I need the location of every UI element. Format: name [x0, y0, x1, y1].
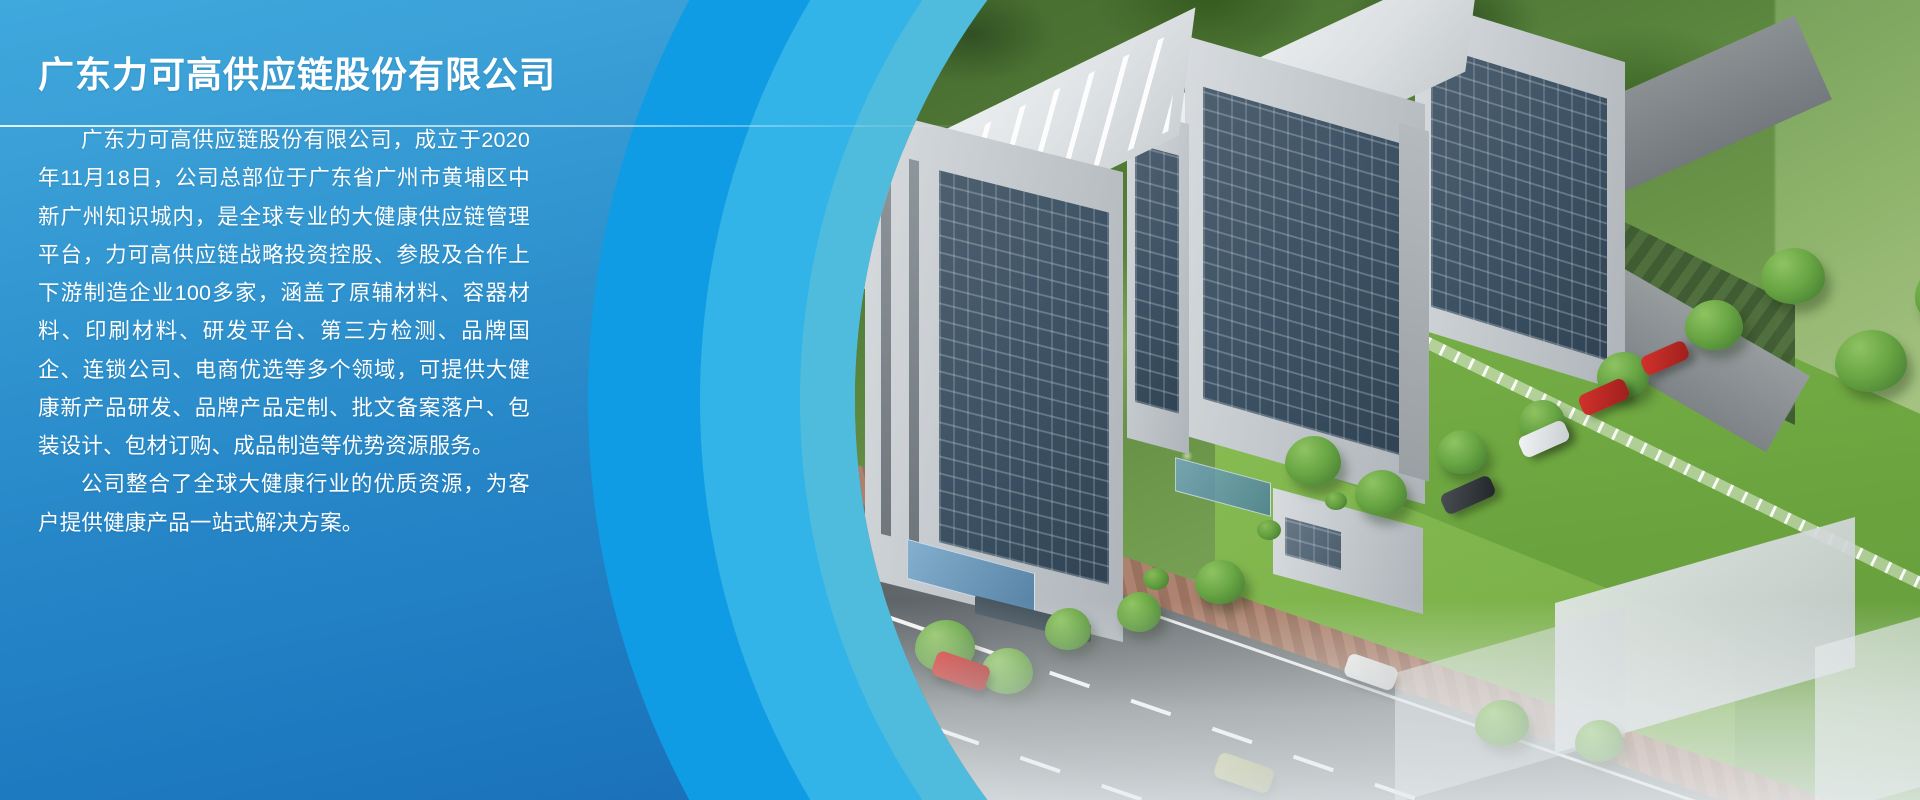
office-block-secondary: [1185, 36, 1425, 505]
campus-photo-disc: [855, 0, 1920, 800]
company-description: 广东力可高供应链股份有限公司，成立于2020年11月18日，公司总部位于广东省广…: [38, 121, 530, 542]
tree: [1045, 608, 1091, 650]
banner-canvas: 广东力可高供应链股份有限公司 广东力可高供应链股份有限公司，成立于2020年11…: [0, 0, 1920, 800]
shrub: [1325, 492, 1347, 510]
tree: [1575, 720, 1623, 762]
curtain-wall-glass: [1203, 87, 1403, 456]
tree: [1285, 436, 1341, 486]
tree: [1437, 430, 1487, 474]
tree: [1475, 700, 1529, 746]
page-title: 广东力可高供应链股份有限公司: [38, 52, 530, 97]
paragraph-company-profile: 广东力可高供应链股份有限公司，成立于2020年11月18日，公司总部位于广东省广…: [38, 121, 530, 465]
facade-pilaster-b: [909, 159, 919, 543]
tree: [1761, 248, 1825, 304]
curtain-wall-glass: [1431, 45, 1607, 361]
curtain-wall-glass: [939, 170, 1109, 584]
paragraph-company-mission: 公司整合了全球大健康行业的优质资源，为客户提供健康产品一站式解决方案。: [38, 465, 530, 542]
shrub: [1257, 520, 1281, 540]
connector-block: [1127, 108, 1189, 455]
facade-pilaster-a: [881, 148, 891, 536]
facade-side: [1399, 123, 1429, 482]
tree: [1355, 470, 1407, 516]
shrub: [1143, 568, 1169, 590]
tree: [1835, 330, 1907, 392]
campus-illustration: [855, 0, 1920, 800]
intro-text-column: 广东力可高供应链股份有限公司 广东力可高供应链股份有限公司，成立于2020年11…: [0, 0, 560, 542]
tree: [1117, 592, 1161, 632]
connector-glass: [1135, 144, 1179, 414]
tree: [1195, 560, 1245, 604]
tree: [1685, 300, 1743, 350]
